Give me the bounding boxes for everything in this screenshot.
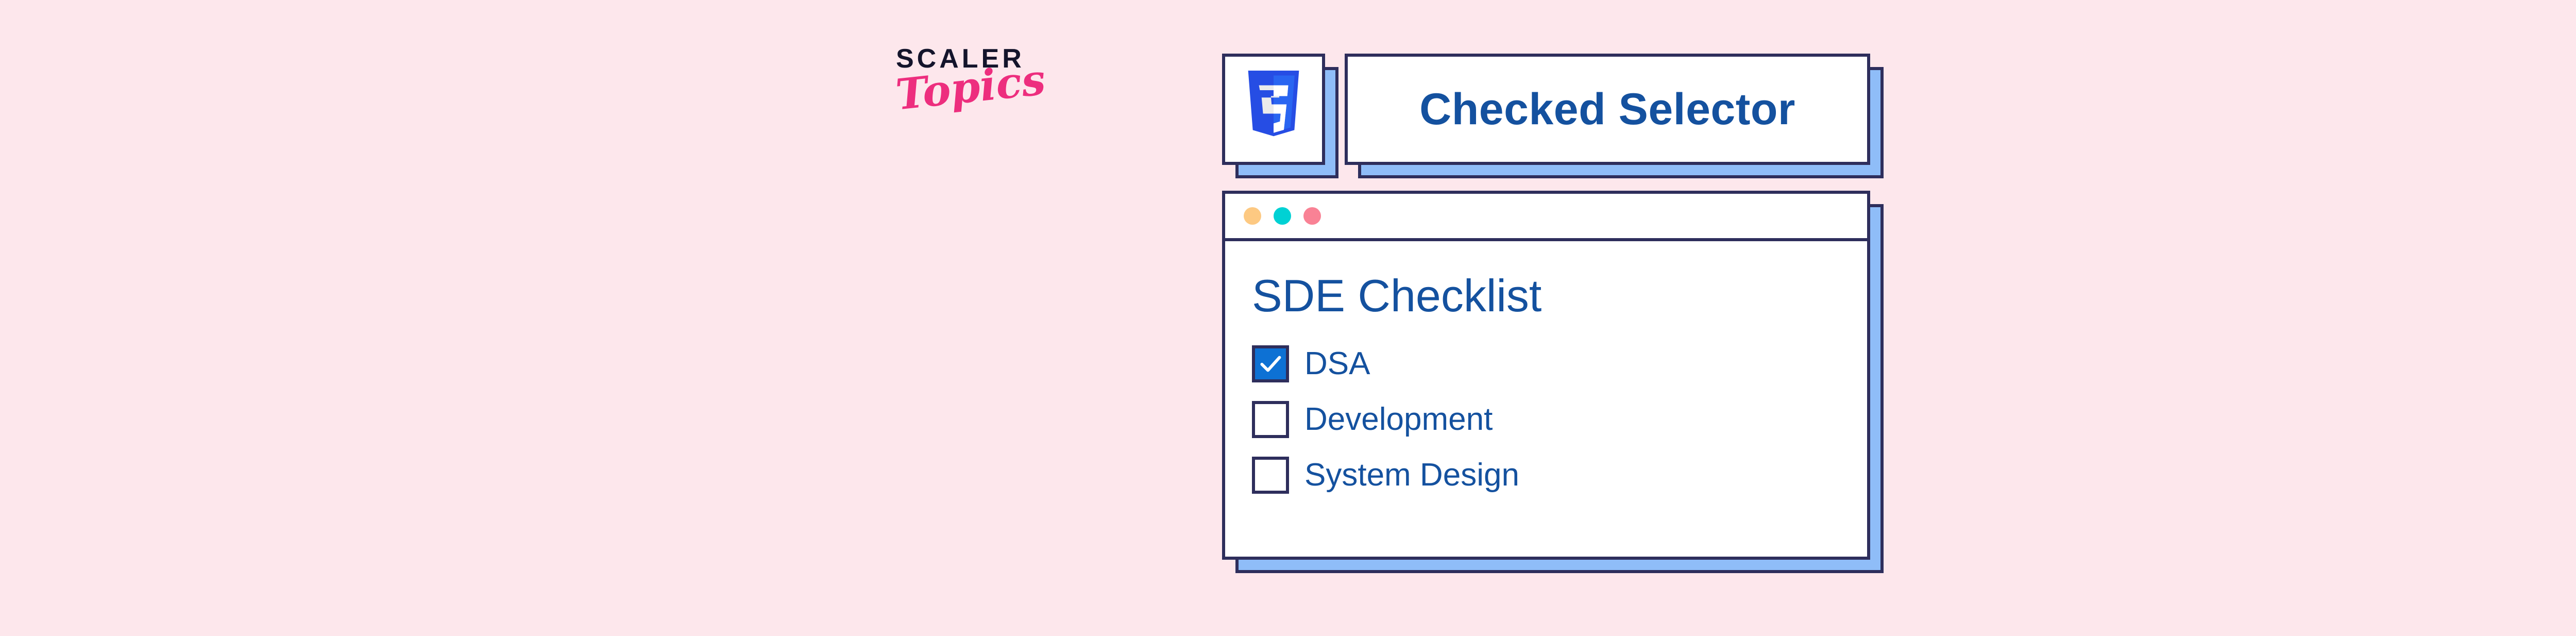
checklist-item-label: Development — [1304, 404, 1493, 436]
checklist-heading: SDE Checklist — [1252, 273, 1867, 319]
checklist-item-label: System Design — [1304, 459, 1519, 491]
checkmark-icon — [1255, 348, 1286, 379]
css3-logo-icon — [1243, 71, 1304, 148]
checkbox-system-design[interactable] — [1252, 457, 1289, 494]
page-title: Checked Selector — [1419, 87, 1795, 131]
window-dot-pink[interactable] — [1303, 207, 1321, 225]
checkbox-development[interactable] — [1252, 401, 1289, 438]
title-card: Checked Selector — [1345, 54, 1870, 165]
list-item[interactable]: Development — [1252, 401, 1867, 438]
list-item[interactable]: System Design — [1252, 457, 1867, 494]
browser-titlebar — [1225, 194, 1867, 241]
checklist-item-label: DSA — [1304, 348, 1370, 380]
checkbox-dsa[interactable] — [1252, 345, 1289, 382]
window-dot-yellow[interactable] — [1244, 207, 1261, 225]
window-dot-cyan[interactable] — [1274, 207, 1291, 225]
scaler-topics-logo: SCALER Topics — [894, 45, 1023, 148]
css3-logo-badge — [1222, 54, 1325, 165]
checklist: DSA Development System Design — [1252, 345, 1867, 494]
list-item[interactable]: DSA — [1252, 345, 1867, 382]
browser-content-area: SDE Checklist DSA Development System Des… — [1225, 241, 1867, 557]
brand-name-secondary: Topics — [894, 61, 1026, 116]
browser-window-mockup: SDE Checklist DSA Development System Des… — [1222, 191, 1870, 560]
